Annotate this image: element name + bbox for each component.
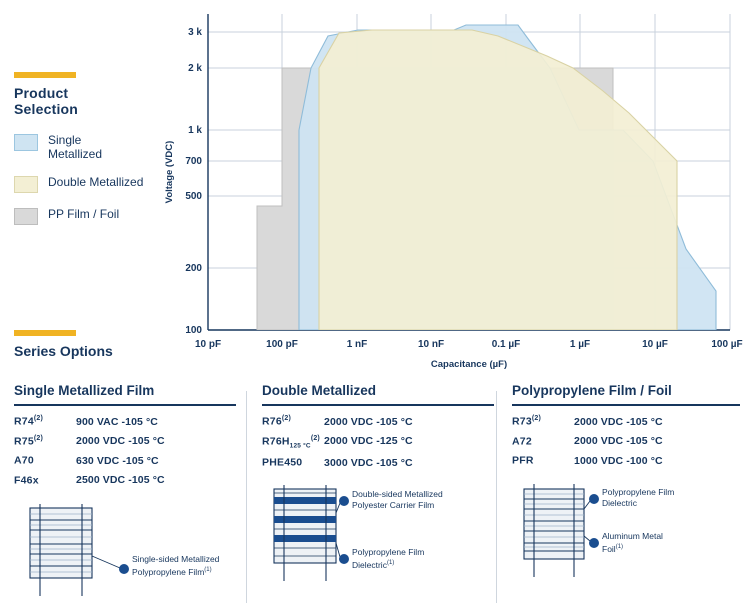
- callout-leader-2b: [336, 543, 349, 564]
- panel-title-single-metallized-film: Single Metallized Film: [14, 383, 236, 404]
- series-row: R76H125 °C(2) 2000 VDC -125 °C: [262, 435, 494, 450]
- callout-label-polypropylene-film-dielectric: Polypropylene Film Dielectric: [602, 487, 712, 509]
- y-tick-3k: 3 k: [188, 27, 202, 38]
- panel-rule-2: [262, 404, 494, 406]
- legend-label-pp-film-foil: PP Film / Foil: [48, 207, 119, 221]
- panel-rule-1: [14, 404, 236, 406]
- capacitor-diagram-single: Single-sided Metallized Polypropylene Fi…: [14, 500, 236, 610]
- series-code: F46x: [14, 474, 76, 487]
- panel-double-metallized: Double Metallized R76(2) 2000 VDC -105 °…: [262, 383, 494, 593]
- y-axis-title: Voltage (VDC): [164, 141, 175, 204]
- series-row: A72 2000 VDC -105 °C: [512, 435, 740, 448]
- series-row: PHE450 3000 VDC -105 °C: [262, 456, 494, 469]
- y-tick-700: 700: [185, 156, 202, 167]
- series-code: R76(2): [262, 415, 324, 428]
- series-spec: 2500 VDC -105 °C: [76, 474, 165, 486]
- panel-rule-3: [512, 404, 740, 406]
- accent-rule-series: [14, 330, 76, 336]
- series-spec: 2000 VDC -105 °C: [76, 435, 165, 447]
- series-code: R73(2): [512, 415, 574, 428]
- x-tick-01uf: 0.1 µF: [492, 339, 521, 350]
- callout-leader-3a: [584, 494, 599, 509]
- legend-label-double-metallized: Double Metallized: [48, 175, 143, 189]
- y-tick-labels: 3 k 2 k 1 k 700 500 200 100: [185, 27, 202, 336]
- x-tick-10nf: 10 nF: [418, 339, 444, 350]
- x-axis-title: Capacitance (µF): [431, 359, 507, 370]
- y-tick-1k: 1 k: [188, 125, 202, 136]
- callout-label-aluminum-metal-foil: Aluminum Metal Foil(1): [602, 531, 712, 555]
- series-row: R76(2) 2000 VDC -105 °C: [262, 415, 494, 428]
- y-tick-100: 100: [185, 325, 202, 336]
- capacitor-diagram-foil: Polypropylene Film Dielectric Aluminum M…: [512, 481, 740, 591]
- legend-label-single-metallized: Single Metallized: [48, 133, 102, 161]
- series-spec: 630 VDC -105 °C: [76, 455, 159, 467]
- panel-divider-2: [496, 391, 497, 603]
- x-tick-100uf: 100 µF: [711, 339, 742, 350]
- callout-label-double-sided-metallized: Double-sided Metallized Polyester Carrie…: [352, 489, 472, 511]
- callout-leader-2a: [336, 496, 349, 513]
- x-tick-10pf: 10 pF: [195, 339, 221, 350]
- capacitor-body-1: [30, 504, 92, 596]
- legend-swatch-single-metallized: [14, 134, 38, 151]
- series-options-panels: Single Metallized Film R74(2) 900 VAC -1…: [0, 383, 751, 611]
- x-tick-10uf: 10 µF: [642, 339, 668, 350]
- series-spec: 2000 VDC -105 °C: [574, 416, 663, 428]
- legend-label-single-line1: Single: [48, 133, 81, 147]
- legend-swatch-pp-film-foil: [14, 208, 38, 225]
- y-tick-200: 200: [185, 263, 202, 274]
- series-row: R74(2) 900 VAC -105 °C: [14, 415, 236, 428]
- panel-title-double-metallized: Double Metallized: [262, 383, 494, 404]
- series-row: F46x 2500 VDC -105 °C: [14, 474, 236, 487]
- series-code: PFR: [512, 454, 574, 467]
- legend-title-line2: Selection: [14, 101, 78, 117]
- callout-label-polypropylene-dielectric: Polypropylene Film Dielectric(1): [352, 547, 462, 571]
- panel-single-metallized-film: Single Metallized Film R74(2) 900 VAC -1…: [14, 383, 236, 610]
- callout-label-single-sided-metallized: Single-sided Metallized Polypropylene Fi…: [132, 554, 237, 578]
- page-root: Product Selection Single Metallized Doub…: [0, 0, 751, 611]
- y-tick-500: 500: [185, 191, 202, 202]
- x-tick-labels: 10 pF 100 pF 1 nF 10 nF 0.1 µF 1 µF 10 µ…: [195, 339, 743, 350]
- legend-swatch-double-metallized: [14, 176, 38, 193]
- series-spec: 2000 VDC -125 °C: [324, 435, 413, 447]
- series-spec: 900 VAC -105 °C: [76, 416, 158, 428]
- capacitor-body-3: [524, 484, 584, 577]
- series-row: A70 630 VDC -105 °C: [14, 454, 236, 467]
- capacitor-body-2: [274, 485, 336, 581]
- series-spec: 2000 VDC -105 °C: [324, 416, 413, 428]
- x-tick-1uf: 1 µF: [570, 339, 590, 350]
- series-code: PHE450: [262, 456, 324, 469]
- series-row: R75(2) 2000 VDC -105 °C: [14, 435, 236, 448]
- series-row: R73(2) 2000 VDC -105 °C: [512, 415, 740, 428]
- x-tick-1nf: 1 nF: [347, 339, 368, 350]
- callout-leader-1: [92, 556, 129, 574]
- capacitor-diagram-double: Double-sided Metallized Polyester Carrie…: [262, 483, 494, 593]
- capacitance-voltage-chart: 3 k 2 k 1 k 700 500 200 100 10 pF 100 pF…: [150, 6, 745, 371]
- series-spec: 2000 VDC -105 °C: [574, 435, 663, 447]
- series-code: R75(2): [14, 435, 76, 448]
- panel-polypropylene-film-foil: Polypropylene Film / Foil R73(2) 2000 VD…: [512, 383, 740, 591]
- x-tick-100pf: 100 pF: [266, 339, 298, 350]
- series-spec: 1000 VDC -100 °C: [574, 455, 663, 467]
- accent-rule: [14, 72, 76, 78]
- series-code: A70: [14, 454, 76, 467]
- series-code: R76H125 °C(2): [262, 435, 324, 450]
- legend-title-line1: Product: [14, 85, 68, 101]
- series-code: A72: [512, 435, 574, 448]
- series-spec: 3000 VDC -105 °C: [324, 457, 413, 469]
- panel-divider-1: [246, 391, 247, 603]
- y-tick-2k: 2 k: [188, 63, 202, 74]
- panel-title-polypropylene-film-foil: Polypropylene Film / Foil: [512, 383, 740, 404]
- series-code: R74(2): [14, 415, 76, 428]
- legend-label-single-line2: Metallized: [48, 147, 102, 161]
- callout-leader-3b: [584, 536, 599, 548]
- series-row: PFR 1000 VDC -100 °C: [512, 454, 740, 467]
- chart-svg: 3 k 2 k 1 k 700 500 200 100 10 pF 100 pF…: [150, 6, 745, 371]
